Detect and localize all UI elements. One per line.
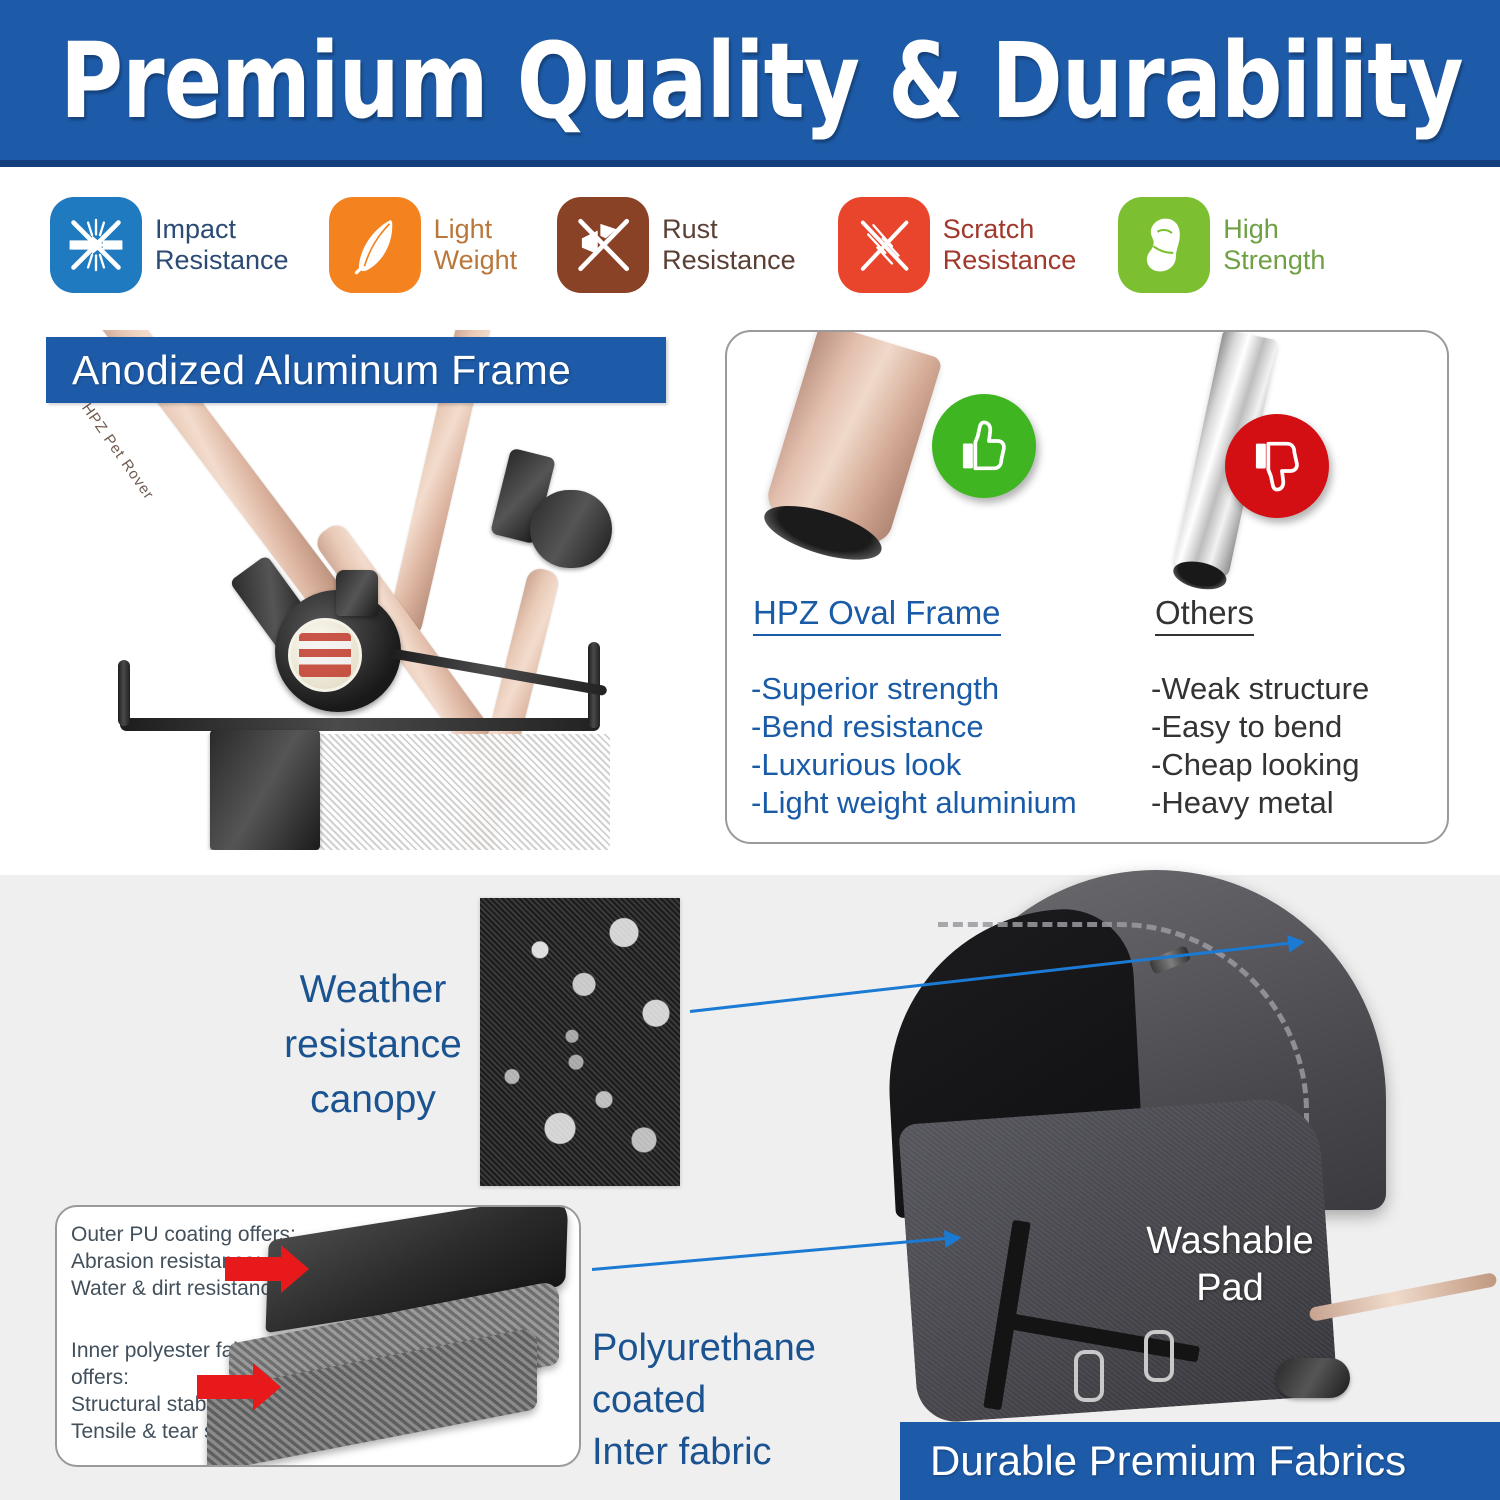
poly-line-3: Inter fabric [592,1426,912,1478]
feature-label-scratch: Scratch Resistance [943,214,1077,276]
comparison-list-hpz: -Superior strength -Bend resistance -Lux… [751,670,1077,822]
weather-label-line2: resistance [258,1017,488,1072]
impact-resistance-glyph [63,210,129,280]
feature-label-line2: Resistance [155,245,289,276]
thumbs-up-icon [932,394,1036,498]
aluminum-frame-photo: HPZ Pet Rover [60,330,720,850]
fabric-layers-diagram-box: Outer PU coating offers: Abrasion resist… [55,1205,581,1467]
hpz-oval-tube-photo [759,330,943,560]
rust-resistance-icon [557,197,649,293]
feature-rust-resistance: Rust Resistance [557,197,796,293]
outer-line-1: Outer PU coating offers: [71,1221,296,1248]
feature-label-line2: Weight [434,245,518,276]
feature-label-line2: Resistance [943,245,1077,276]
feature-label-strength: High Strength [1223,214,1325,276]
washable-pad-line1: Washable [1100,1218,1360,1265]
feature-label-line1: Rust [662,214,796,245]
comparison-list-others: -Weak structure -Easy to bend -Cheap loo… [1151,670,1369,822]
thumbs-down-icon [1225,414,1329,518]
feature-label-line1: Light [434,214,518,245]
rail-joint [1276,1358,1350,1398]
red-arrow-to-outer-layer [225,1257,283,1281]
feather-light-weight-icon [329,197,421,293]
thumbs-down-glyph [1246,435,1308,497]
feature-icon-row: Impact Resistance Light Weight [0,180,1500,310]
basket-bracket [210,730,320,850]
feature-label-line1: Scratch [943,214,1077,245]
feature-label-line1: High [1223,214,1325,245]
scratch-resistance-icon [838,197,930,293]
feature-label-line1: Impact [155,214,289,245]
thumbs-up-glyph [953,415,1015,477]
hub-socket [336,570,378,616]
poly-line-1: Polyurethane [592,1322,912,1374]
rust-glyph [570,210,636,280]
durable-premium-fabrics-label: Durable Premium Fabrics [900,1437,1406,1485]
scratch-glyph [851,210,917,280]
leash-clip-left [1074,1350,1104,1402]
frame-bar-bottom [120,718,600,731]
feature-label-line2: Strength [1223,245,1325,276]
durable-premium-fabrics-banner: Durable Premium Fabrics [900,1422,1500,1500]
header-banner: Premium Quality & Durability [0,0,1500,160]
list-item: -Superior strength [751,670,1077,708]
high-strength-icon [1118,197,1210,293]
poly-line-2: coated [592,1374,912,1426]
weather-label-line1: Weather [258,962,488,1017]
feature-scratch-resistance: Scratch Resistance [838,197,1077,293]
list-item: -Heavy metal [1151,784,1369,822]
list-item: -Bend resistance [751,708,1077,746]
weather-label-line3: canopy [258,1072,488,1127]
polyurethane-coated-label: Polyurethane coated Inter fabric [592,1322,912,1478]
stroller-carrier-photo [878,860,1500,1440]
feather-glyph [342,210,408,280]
infographic-page: Premium Quality & Durability [0,0,1500,1500]
list-item: -Easy to bend [1151,708,1369,746]
impact-resistance-icon [50,197,142,293]
page-title: Premium Quality & Durability [60,26,1440,136]
hub-emblem-badge [288,618,362,692]
frame-wheel-mount [530,490,612,568]
anodized-frame-banner: Anodized Aluminum Frame [46,337,666,403]
feature-light-weight: Light Weight [329,197,518,293]
bicep-glyph [1131,210,1197,280]
washable-pad-label: Washable Pad [1100,1218,1360,1312]
feature-high-strength: High Strength [1118,197,1325,293]
header-divider [0,160,1500,167]
frame-bar-left-vertical [118,660,130,726]
feature-label-line2: Resistance [662,245,796,276]
list-item: -Cheap looking [1151,746,1369,784]
weather-resistance-label: Weather resistance canopy [258,962,488,1127]
anodized-frame-banner-label: Anodized Aluminum Frame [46,347,571,394]
leash-clip-right [1144,1330,1174,1382]
list-item: -Weak structure [1151,670,1369,708]
feature-label-light: Light Weight [434,214,518,276]
washable-pad-line2: Pad [1100,1265,1360,1312]
comparison-heading-hpz: HPZ Oval Frame [753,594,1001,636]
feature-impact-resistance: Impact Resistance [50,197,289,293]
frame-comparison-panel: HPZ Oval Frame Others -Superior strength… [725,330,1449,844]
comparison-heading-others: Others [1155,594,1254,636]
red-arrow-to-inner-layer [197,1375,255,1399]
list-item: -Luxurious look [751,746,1077,784]
feature-label-rust: Rust Resistance [662,214,796,276]
brand-label: HPZ Pet Rover [78,400,157,503]
list-item: -Light weight aluminium [751,784,1077,822]
water-droplets-fabric-photo [480,898,680,1186]
feature-label-impact: Impact Resistance [155,214,289,276]
